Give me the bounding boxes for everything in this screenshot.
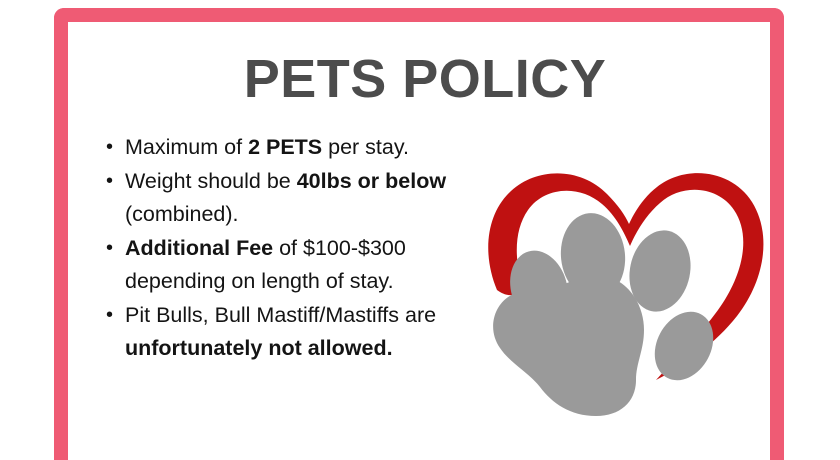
body-text: per stay. <box>322 135 409 159</box>
policy-text-additional-fee: Additional Fee of $100-$300 depending on… <box>125 236 406 294</box>
body-text: Pit Bulls, Bull Mastiff/Mastiffs are <box>125 303 436 327</box>
policy-bullet-list: Maximum of 2 PETS per stay. Weight shoul… <box>104 131 504 366</box>
policy-text-max-pets: Maximum of 2 PETS per stay. <box>125 135 409 159</box>
page-title: PETS POLICY <box>80 52 770 106</box>
emphasis-text: 2 PETS <box>248 135 322 159</box>
list-item: Weight should be 40lbs or below (combine… <box>104 165 504 232</box>
policy-text-weight-limit: Weight should be 40lbs or below (combine… <box>125 169 446 227</box>
body-text: (combined). <box>125 202 239 226</box>
paw-print-icon <box>493 210 725 416</box>
heart-paw-logo <box>478 158 774 416</box>
list-item: Additional Fee of $100-$300 depending on… <box>104 232 504 299</box>
body-text: Maximum of <box>125 135 248 159</box>
emphasis-text: Additional Fee <box>125 236 273 260</box>
emphasis-text: 40lbs or below <box>297 169 446 193</box>
emphasis-text: unfortunately not allowed. <box>125 336 393 360</box>
heart-paw-icon <box>478 158 774 416</box>
list-item: Pit Bulls, Bull Mastiff/Mastiffs are unf… <box>104 299 504 366</box>
pets-policy-slide: PETS POLICY Maximum of 2 PETS per stay. … <box>0 0 840 460</box>
policy-text-breed-restriction: Pit Bulls, Bull Mastiff/Mastiffs are unf… <box>125 303 436 361</box>
body-text: Weight should be <box>125 169 297 193</box>
list-item: Maximum of 2 PETS per stay. <box>104 131 504 165</box>
